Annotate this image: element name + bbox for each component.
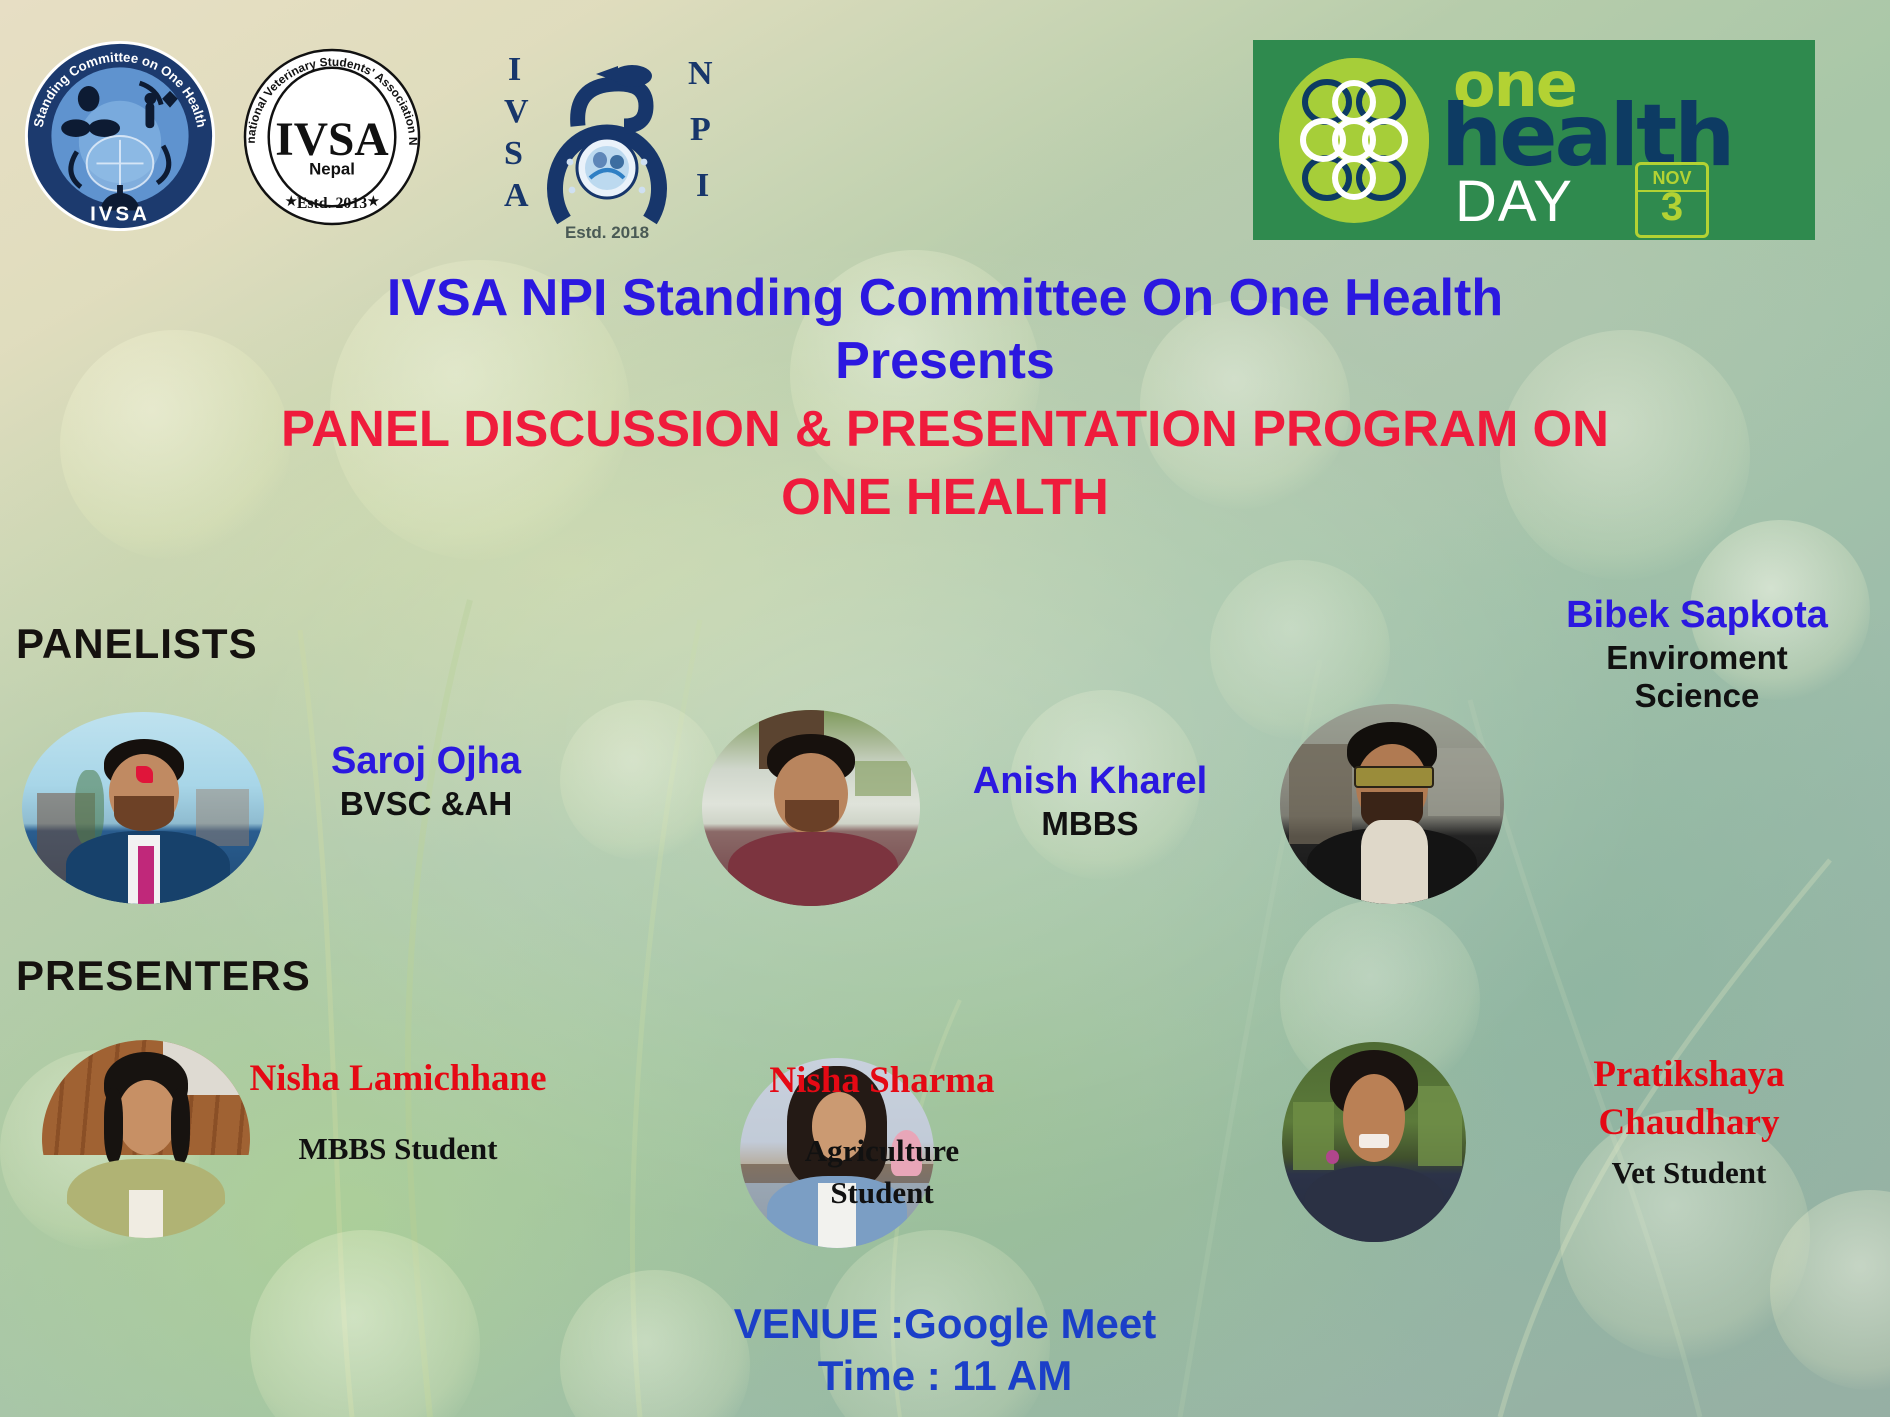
venue-block: VENUE :Google Meet Time : 11 AM <box>0 1298 1890 1402</box>
panelist-role-2-line1: Enviroment <box>1510 640 1884 676</box>
ivsa-one-health-logo-icon: Standing Committee on One Health IVSA <box>22 38 218 234</box>
page-title-line1: IVSA NPI Standing Committee On One Healt… <box>0 266 1890 330</box>
presenter-name-1: Nisha Sharma <box>712 1062 1052 1101</box>
svg-text:IVSA: IVSA <box>90 202 150 225</box>
ivsa-npi-logo-icon: IV SA NPI Estd. 2018 <box>492 40 722 245</box>
logo-row: Standing Committee on One Health IVSA <box>0 0 1890 300</box>
panelist-role-1: MBBS <box>930 806 1250 842</box>
one-health-rings-icon <box>1279 58 1429 223</box>
presenter-role-1-line1: Agriculture <box>712 1134 1052 1167</box>
svg-text:★: ★ <box>367 194 380 210</box>
svg-text:IVSA: IVSA <box>275 114 388 166</box>
svg-text:P: P <box>690 111 711 148</box>
panelist-name-1: Anish Kharel <box>930 762 1250 802</box>
svg-text:N: N <box>688 55 713 92</box>
panelist-role-0: BVSC &AH <box>276 786 576 822</box>
svg-text:I: I <box>508 51 521 88</box>
svg-text:I: I <box>696 167 709 204</box>
one-health-day-banner: one health DAY NOV 3 <box>1253 40 1815 240</box>
one-health-day-wordmark: one health DAY NOV 3 <box>1437 40 1815 240</box>
svg-text:★: ★ <box>285 194 298 210</box>
program-title-line2: ONE HEALTH <box>0 466 1890 528</box>
svg-text:S: S <box>504 135 523 172</box>
presenters-heading: PRESENTERS <box>16 952 311 1000</box>
page-title-line2: Presents <box>0 330 1890 392</box>
presenter-role-1-line2: Student <box>712 1176 1052 1209</box>
presenter-photo-nisha-lamichhane <box>42 1040 250 1238</box>
panelist-photo-bibek-sapkota <box>1280 704 1504 904</box>
svg-text:Nepal: Nepal <box>309 160 355 179</box>
svg-text:Estd. 2018: Estd. 2018 <box>565 223 649 242</box>
presenter-name-2-line1: Pratikshaya <box>1494 1056 1884 1095</box>
ohd-cal-day: 3 <box>1661 190 1683 224</box>
presenter-photo-pratikshaya-chaudhary <box>1282 1042 1466 1242</box>
panelists-heading: PANELISTS <box>16 620 258 668</box>
panelist-name-2: Bibek Sapkota <box>1510 596 1884 636</box>
time-line: Time : 11 AM <box>0 1350 1890 1402</box>
calendar-date-icon: NOV 3 <box>1635 162 1709 238</box>
panelist-photo-anish-kharel <box>702 710 920 906</box>
ivsa-nepal-logo-icon: International Veterinary Students' Assoc… <box>243 48 421 226</box>
panelist-name-0: Saroj Ojha <box>276 742 576 782</box>
svg-text:Estd. 2013: Estd. 2013 <box>297 195 367 212</box>
presenter-role-0: MBBS Student <box>228 1132 568 1165</box>
svg-text:A: A <box>504 177 529 214</box>
svg-text:V: V <box>504 93 529 130</box>
presenter-role-2: Vet Student <box>1494 1156 1884 1189</box>
presenter-name-0: Nisha Lamichhane <box>228 1060 568 1099</box>
title-block: IVSA NPI Standing Committee On One Healt… <box>0 266 1890 528</box>
ohd-day-text: DAY <box>1455 168 1573 235</box>
presenter-name-2-line2: Chaudhary <box>1494 1104 1884 1143</box>
program-title-line1: PANEL DISCUSSION & PRESENTATION PROGRAM … <box>0 398 1890 460</box>
poster-canvas: Standing Committee on One Health IVSA <box>0 0 1890 1417</box>
panelist-role-2-line2: Science <box>1510 678 1884 714</box>
panelist-photo-saroj-ojha <box>22 712 264 904</box>
venue-line: VENUE :Google Meet <box>0 1298 1890 1350</box>
